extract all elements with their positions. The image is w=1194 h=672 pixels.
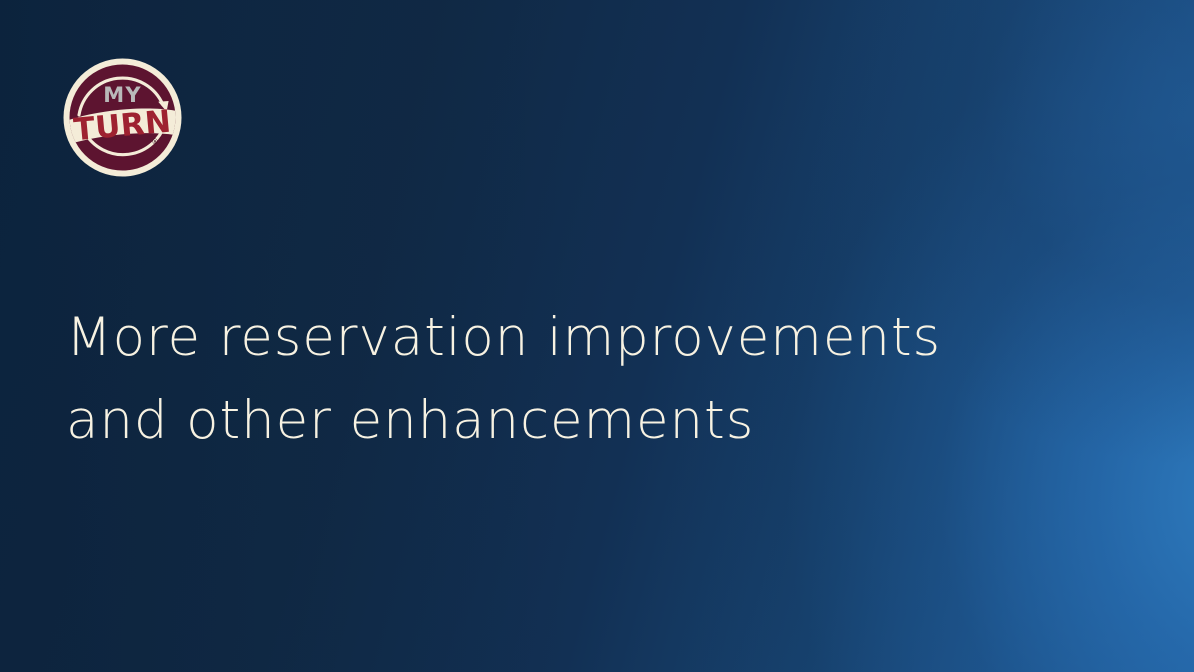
page-title-line-2: and other enhancements (66, 379, 966, 462)
logo-word-my: MY (103, 83, 142, 107)
logo-trademark: ® (152, 138, 159, 146)
page-title-line-1: More reservation improvements (66, 296, 966, 379)
page-title: More reservation improvements and other … (66, 296, 966, 462)
slide-canvas: MY TURN ® More reservation improvements … (0, 0, 1194, 672)
my-turn-logo: MY TURN ® (62, 57, 183, 178)
